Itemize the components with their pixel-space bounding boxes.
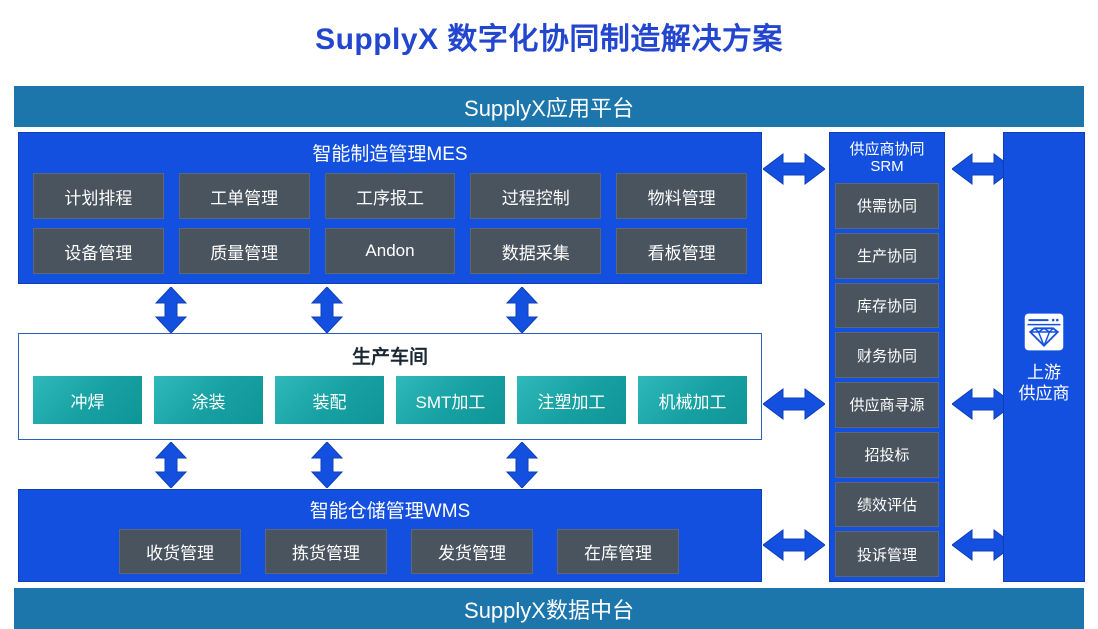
mes-title: 智能制造管理MES bbox=[19, 139, 761, 166]
diagram-canvas: SupplyX 数字化协同制造解决方案 SupplyX应用平台 智能制造管理ME… bbox=[0, 0, 1098, 629]
mes-panel: 智能制造管理MES 计划排程 工单管理 工序报工 过程控制 物料管理 设备管理 … bbox=[18, 132, 762, 284]
wms-tile-receiving[interactable]: 收货管理 bbox=[119, 529, 241, 574]
platform-bottom-band: SupplyX数据中台 bbox=[14, 588, 1084, 629]
srm-item-finance[interactable]: 财务协同 bbox=[835, 332, 939, 378]
workshop-panel: 生产车间 冲焊 涂装 装配 SMT加工 注塑加工 机械加工 bbox=[18, 333, 762, 440]
double-arrow-vertical-icon bbox=[154, 442, 188, 488]
mes-tile-work-order[interactable]: 工单管理 bbox=[179, 173, 310, 219]
mes-tile-process-control[interactable]: 过程控制 bbox=[470, 173, 601, 219]
srm-panel: 供应商协同 SRM 供需协同 生产协同 库存协同 财务协同 供应商寻源 招投标 … bbox=[829, 132, 945, 582]
mes-tile-material[interactable]: 物料管理 bbox=[616, 173, 747, 219]
workshop-tile-painting[interactable]: 涂装 bbox=[154, 376, 263, 424]
wms-tile-inventory[interactable]: 在库管理 bbox=[557, 529, 679, 574]
upstream-supplier-label: 上游 供应商 bbox=[1019, 362, 1070, 405]
wms-tile-shipping[interactable]: 发货管理 bbox=[411, 529, 533, 574]
srm-item-production[interactable]: 生产协同 bbox=[835, 233, 939, 279]
wms-panel: 智能仓储管理WMS 收货管理 拣货管理 发货管理 在库管理 bbox=[18, 489, 762, 582]
platform-top-band: SupplyX应用平台 bbox=[14, 86, 1084, 127]
wms-tile-row: 收货管理 拣货管理 发货管理 在库管理 bbox=[119, 529, 679, 574]
mes-tile-row-1: 计划排程 工单管理 工序报工 过程控制 物料管理 bbox=[33, 173, 747, 219]
mes-tile-grid: 计划排程 工单管理 工序报工 过程控制 物料管理 设备管理 质量管理 Andon… bbox=[33, 173, 747, 274]
workshop-tile-injection[interactable]: 注塑加工 bbox=[517, 376, 626, 424]
upstream-supplier-panel: 上游 供应商 bbox=[1003, 132, 1085, 582]
workshop-tile-smt[interactable]: SMT加工 bbox=[396, 376, 505, 424]
wms-title: 智能仓储管理WMS bbox=[19, 496, 761, 523]
wms-tile-picking[interactable]: 拣货管理 bbox=[265, 529, 387, 574]
mes-tile-row-2: 设备管理 质量管理 Andon 数据采集 看板管理 bbox=[33, 228, 747, 274]
workshop-tile-row: 冲焊 涂装 装配 SMT加工 注塑加工 机械加工 bbox=[33, 376, 747, 424]
double-arrow-vertical-icon bbox=[310, 287, 344, 333]
platform-top-label: SupplyX应用平台 bbox=[464, 91, 634, 123]
platform-bottom-label: SupplyX数据中台 bbox=[464, 593, 634, 625]
workshop-title: 生产车间 bbox=[19, 342, 761, 369]
double-arrow-horizontal-icon bbox=[763, 528, 825, 562]
page-title: SupplyX 数字化协同制造解决方案 bbox=[0, 14, 1098, 58]
mes-tile-kanban[interactable]: 看板管理 bbox=[616, 228, 747, 274]
mes-tile-data-collection[interactable]: 数据采集 bbox=[470, 228, 601, 274]
mes-tile-andon[interactable]: Andon bbox=[325, 228, 456, 274]
upstream-supplier-label-line1: 上游 bbox=[1019, 362, 1070, 383]
srm-item-list: 供需协同 生产协同 库存协同 财务协同 供应商寻源 招投标 绩效评估 投诉管理 bbox=[830, 183, 944, 581]
srm-item-inventory[interactable]: 库存协同 bbox=[835, 283, 939, 329]
workshop-tile-stamping-welding[interactable]: 冲焊 bbox=[33, 376, 142, 424]
srm-title: 供应商协同 SRM bbox=[830, 133, 944, 183]
double-arrow-vertical-icon bbox=[505, 287, 539, 333]
srm-item-sourcing[interactable]: 供应商寻源 bbox=[835, 382, 939, 428]
mes-tile-plan-scheduling[interactable]: 计划排程 bbox=[33, 173, 164, 219]
double-arrow-vertical-icon bbox=[505, 442, 539, 488]
srm-item-performance[interactable]: 绩效评估 bbox=[835, 482, 939, 528]
workshop-tile-assembly[interactable]: 装配 bbox=[275, 376, 384, 424]
srm-item-bidding[interactable]: 招投标 bbox=[835, 432, 939, 478]
mes-tile-equipment[interactable]: 设备管理 bbox=[33, 228, 164, 274]
srm-item-supply-demand[interactable]: 供需协同 bbox=[835, 183, 939, 229]
upstream-supplier-label-line2: 供应商 bbox=[1019, 383, 1070, 404]
mes-tile-process-report[interactable]: 工序报工 bbox=[325, 173, 456, 219]
diamond-window-icon bbox=[1022, 310, 1066, 354]
srm-item-complaint[interactable]: 投诉管理 bbox=[835, 531, 939, 577]
double-arrow-vertical-icon bbox=[154, 287, 188, 333]
srm-title-line1: 供应商协同 bbox=[849, 141, 924, 158]
double-arrow-horizontal-icon bbox=[763, 152, 825, 186]
mes-tile-quality[interactable]: 质量管理 bbox=[179, 228, 310, 274]
double-arrow-horizontal-icon bbox=[763, 387, 825, 421]
srm-title-line2: SRM bbox=[870, 158, 903, 175]
workshop-tile-machining[interactable]: 机械加工 bbox=[638, 376, 747, 424]
double-arrow-vertical-icon bbox=[310, 442, 344, 488]
